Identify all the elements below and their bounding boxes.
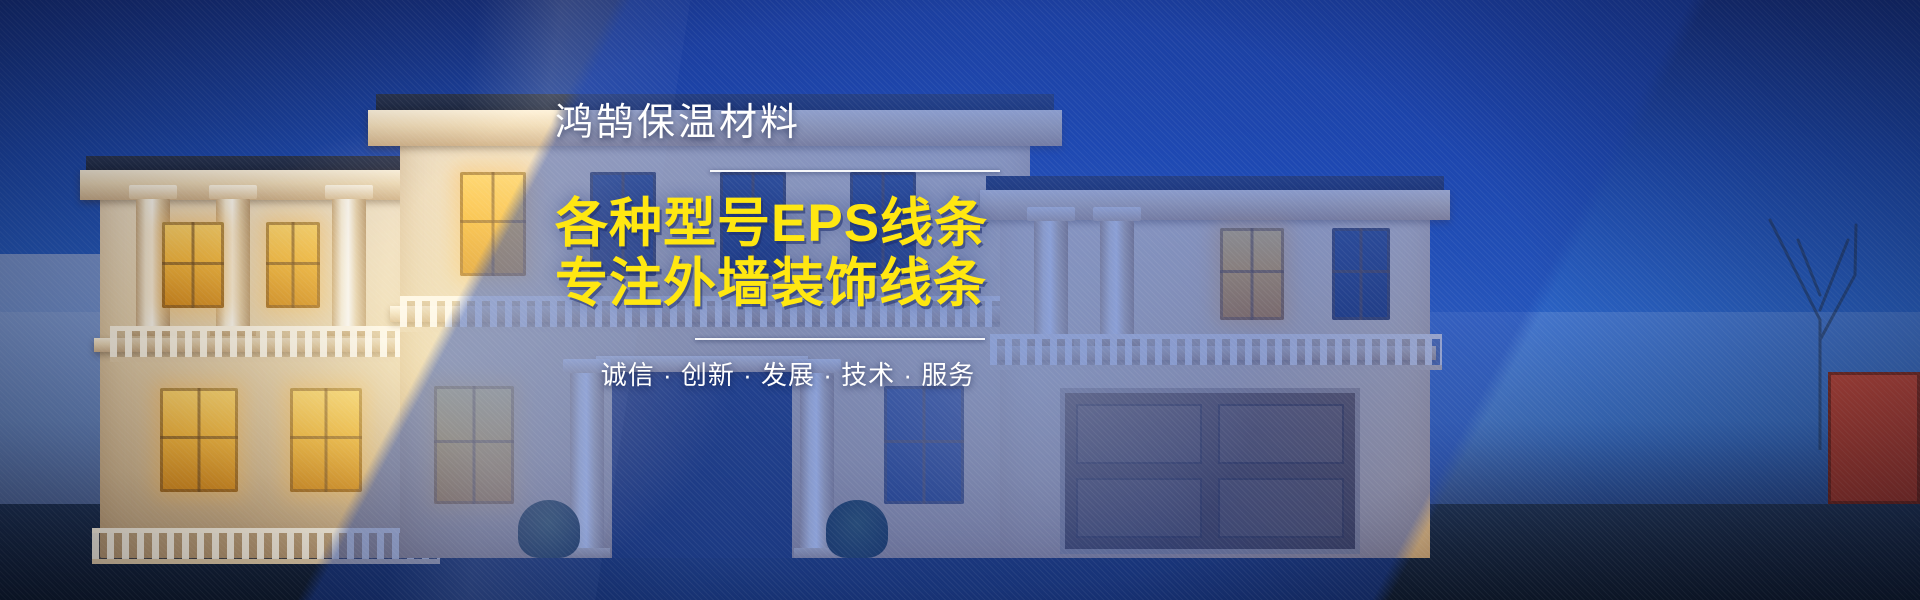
divider-bottom [695,338,985,340]
window-lit [290,388,362,492]
shrub [826,500,888,558]
window-dark [1332,228,1390,320]
headline-line-2: 专注外墙装饰线条 [555,254,1025,314]
banner-copy: 鸿鹄保温材料 各种型号EPS线条 专注外墙装饰线条 诚信 · 创新 · 发展 ·… [555,104,1025,388]
column [332,198,366,336]
headline: 各种型号EPS线条 专注外墙装饰线条 [555,194,1025,314]
window-lit [162,222,224,308]
entry-portico [612,368,792,558]
tagline: 诚信 · 创新 · 发展 · 技术 · 服务 [563,362,1013,388]
brand-name: 鸿鹄保温材料 [555,104,1025,142]
bare-tree-icon [1670,180,1860,450]
window-lit [434,386,514,504]
shrub [518,500,580,558]
column [1100,220,1134,346]
column [1034,220,1068,346]
garage-door [1060,388,1360,554]
balustrade [990,334,1442,370]
divider-top [710,170,1000,172]
window-lit [460,172,526,276]
window-lit [160,388,238,492]
window-lit [1220,228,1284,320]
window-dark [884,386,964,504]
balustrade [92,528,440,564]
window-lit [266,222,320,308]
headline-line-1: 各种型号EPS线条 [555,194,1025,254]
balustrade [110,326,426,362]
hero-banner: 鸿鹄保温材料 各种型号EPS线条 专注外墙装饰线条 诚信 · 创新 · 发展 ·… [0,0,1920,600]
